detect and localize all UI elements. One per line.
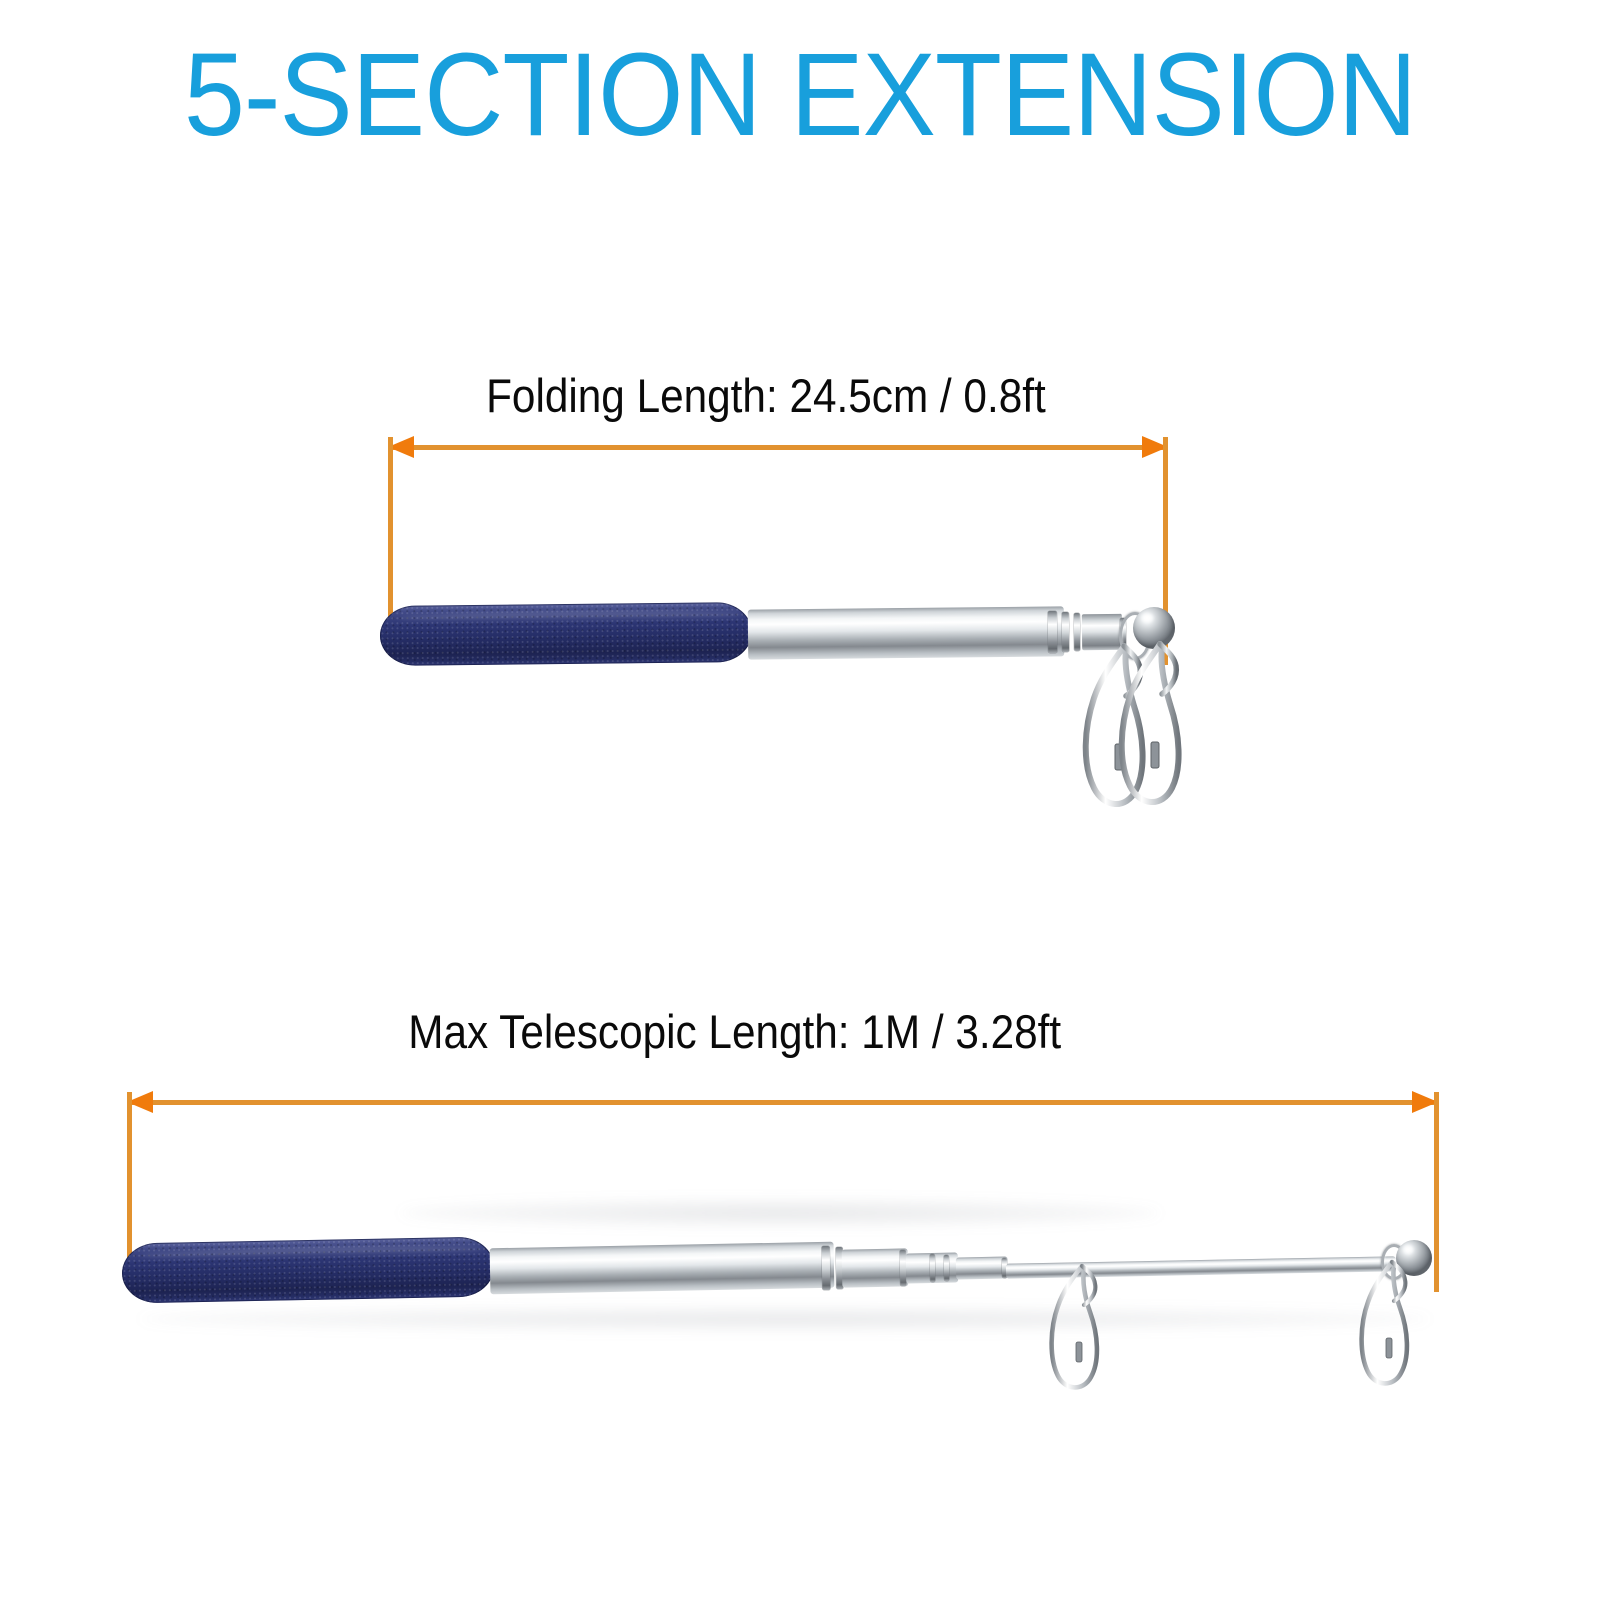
tube-section-1-extended	[490, 1242, 835, 1295]
page-title: 5-SECTION EXTENSION	[56, 36, 1544, 154]
snap-hook-tip-extended	[1350, 1258, 1450, 1408]
joint-ring-1	[1048, 611, 1057, 653]
folding-length-caption: Folding Length: 24.5cm / 0.8ft	[486, 372, 1046, 419]
snap-hook-2	[1122, 644, 1179, 802]
product-shadow-extended	[140, 1308, 1430, 1330]
snap-hook-1	[1086, 646, 1143, 804]
foam-grip	[380, 602, 753, 666]
ball-tip-highlight-extended	[1404, 1246, 1413, 1253]
ball-tip-highlight	[1142, 614, 1153, 622]
extended-dimension-line	[129, 1100, 1438, 1105]
snap-hook-mid-extended	[1040, 1262, 1140, 1412]
snap-hook-pair	[1060, 640, 1220, 840]
grip-highlight-extended	[140, 1244, 482, 1260]
tube-section-1	[748, 606, 1065, 659]
tube-section-4-extended	[956, 1257, 1008, 1280]
grip-highlight	[398, 610, 740, 623]
tube-section-2-extended	[842, 1248, 909, 1287]
infographic-canvas: 5-SECTION EXTENSION Folding Length: 24.5…	[0, 0, 1600, 1600]
product-folded	[0, 560, 1250, 810]
product-extended	[0, 1200, 1600, 1480]
foam-grip-extended	[121, 1236, 494, 1303]
folded-dimension-line	[390, 445, 1168, 450]
max-telescopic-length-caption: Max Telescopic Length: 1M / 3.28ft	[408, 1008, 1061, 1055]
joint-ring-4-extended	[930, 1254, 936, 1282]
joint-ring-1-extended	[822, 1246, 831, 1290]
joint-ring-5-extended	[944, 1255, 949, 1281]
